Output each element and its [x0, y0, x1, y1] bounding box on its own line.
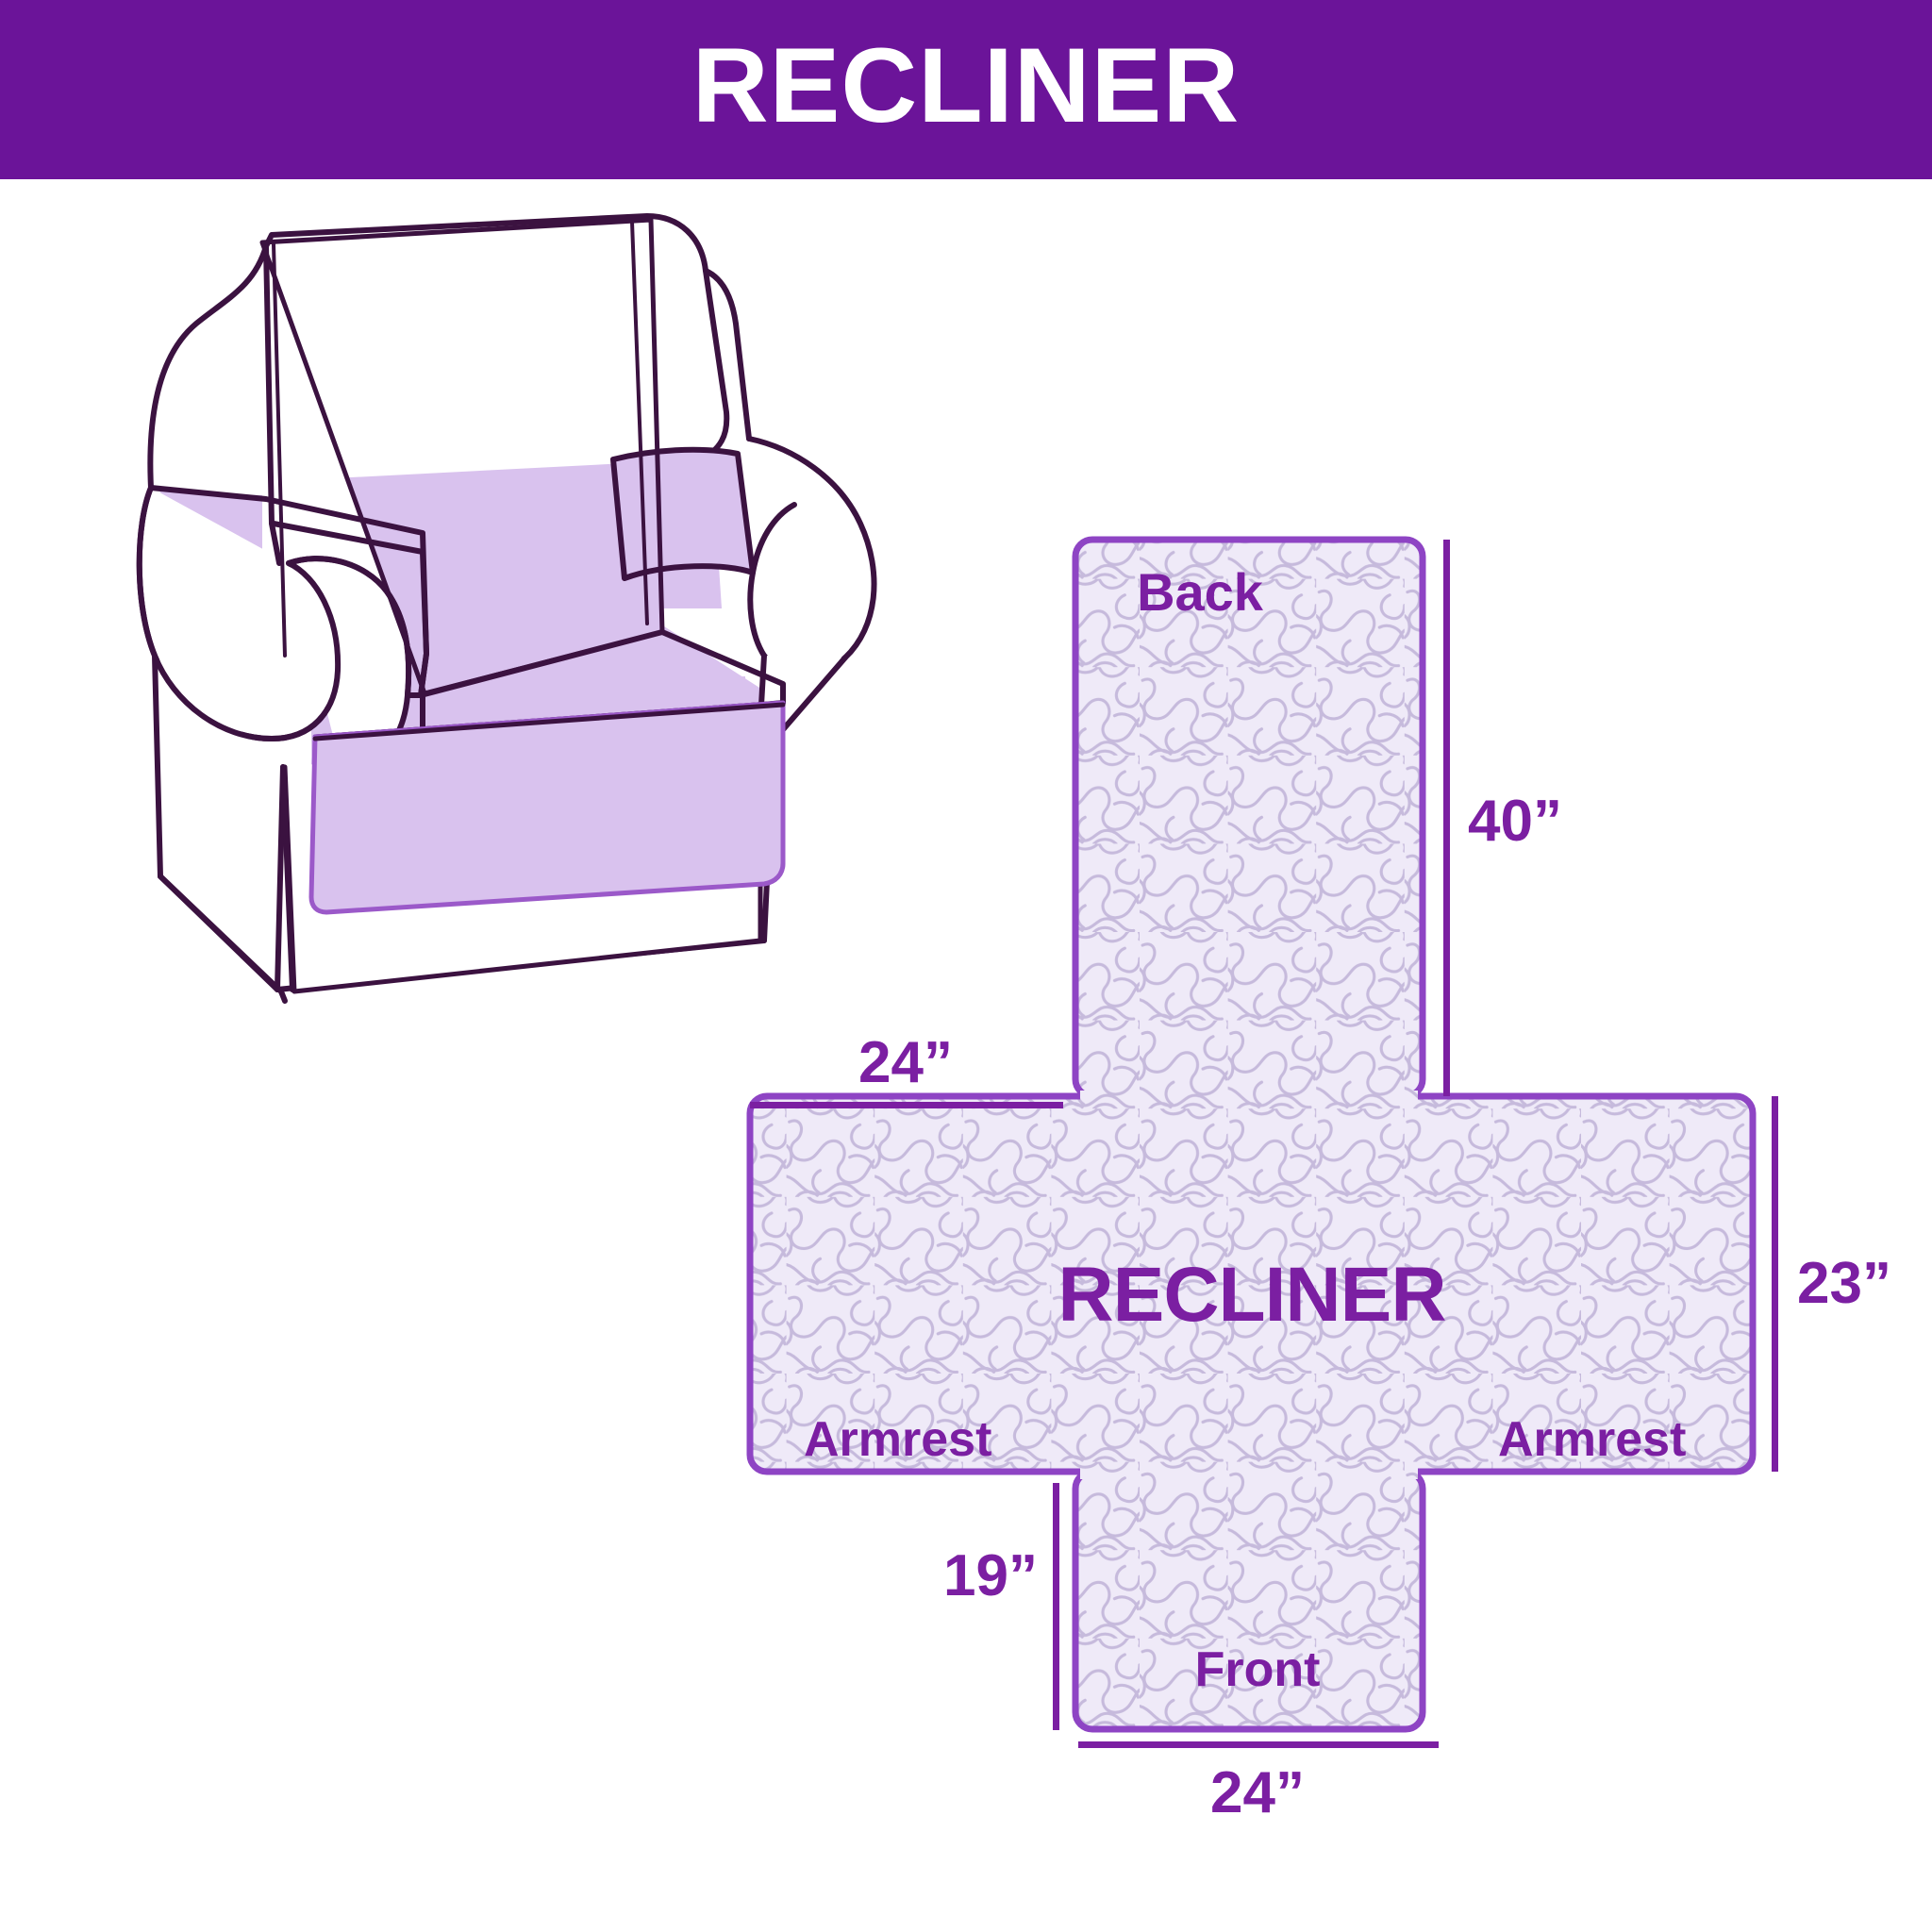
panel-label-front: Front [1195, 1645, 1321, 1694]
recliner-size-guide-page: RECLINER [0, 0, 1932, 1932]
panel-label-back: Back [1137, 566, 1263, 619]
dimension-line-front-width [1078, 1741, 1439, 1748]
panel-label-recliner-center: RECLINER [1058, 1257, 1445, 1334]
header-banner: RECLINER [0, 0, 1932, 179]
page-title: RECLINER [692, 33, 1240, 139]
dimension-line-center-height [1772, 1096, 1778, 1472]
dimension-line-back-height [1443, 540, 1450, 1096]
dimension-line-armrest-width [750, 1102, 1063, 1108]
panel-label-armrest-right: Armrest [1498, 1415, 1686, 1464]
panel-label-armrest-left: Armrest [804, 1415, 991, 1464]
dimension-line-front-height [1053, 1483, 1059, 1730]
dimension-label-front-width: 24” [1210, 1764, 1305, 1823]
dimension-label-back-height: 40” [1468, 792, 1562, 851]
dimension-label-center-height: 23” [1797, 1255, 1891, 1313]
dimension-label-armrest-width: 24” [858, 1034, 953, 1092]
dimension-label-front-height: 19” [943, 1547, 1038, 1606]
